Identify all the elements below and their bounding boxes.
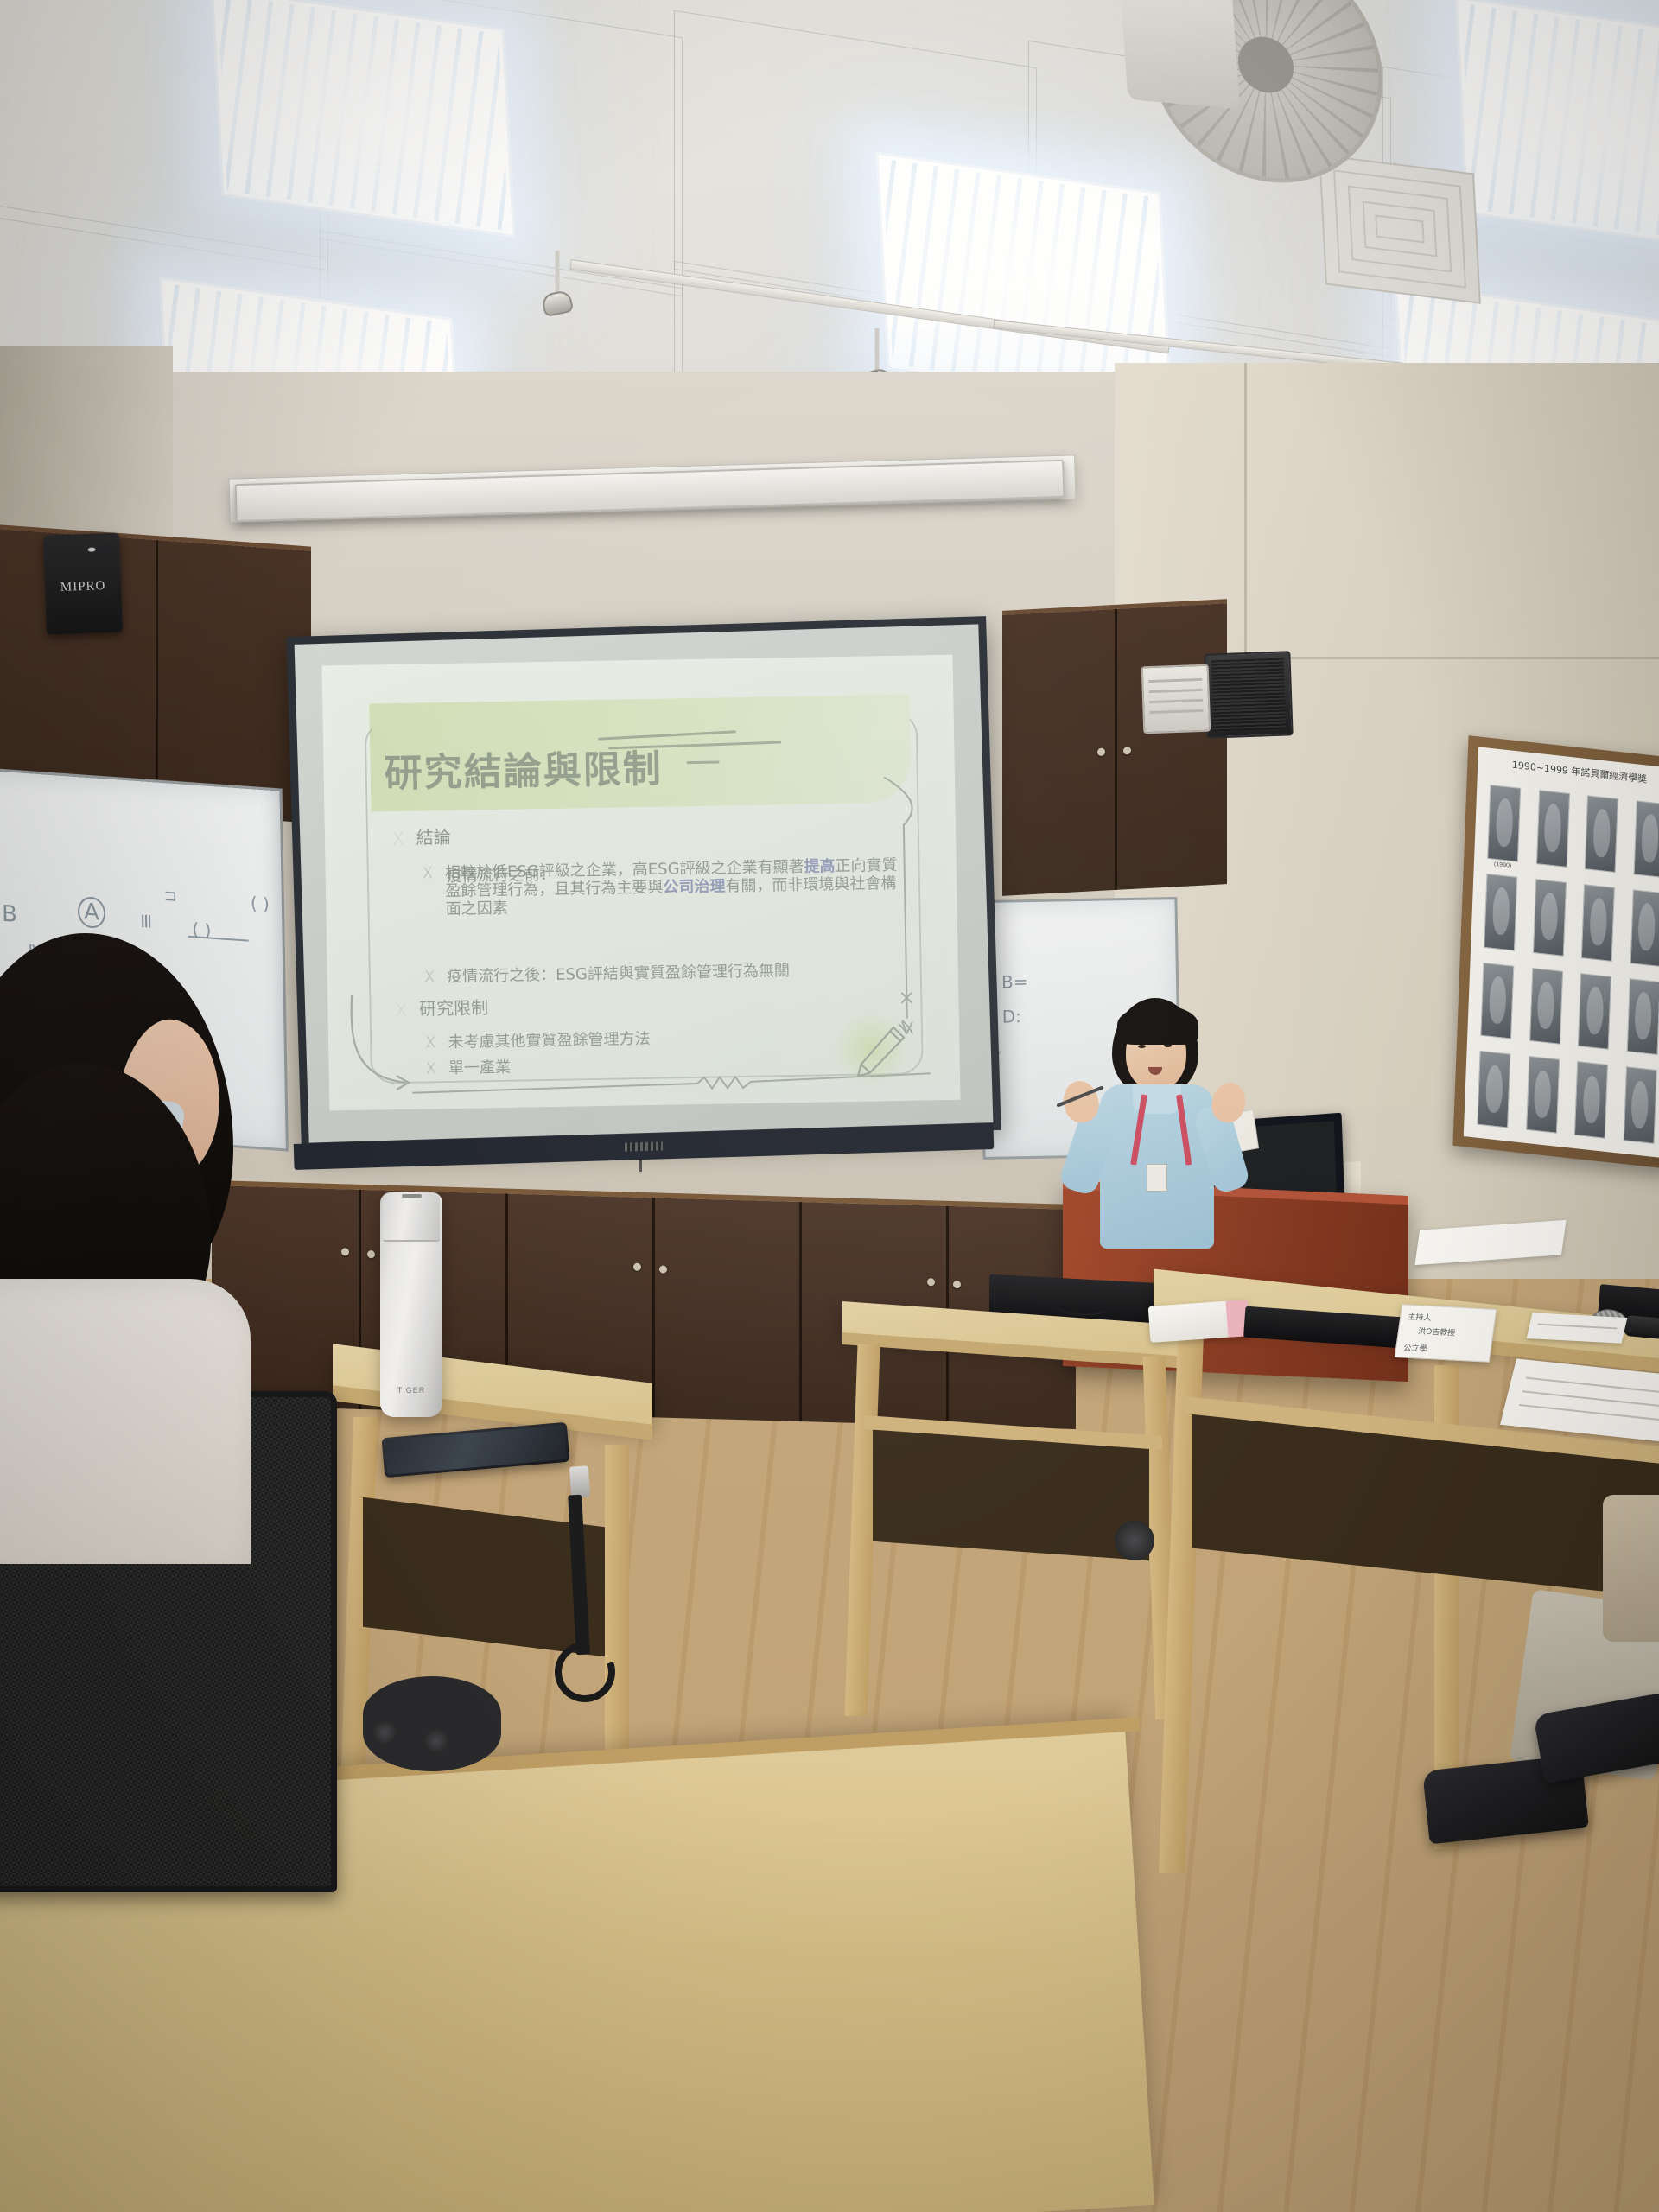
poster-inner: 1990~1999 年諾貝爾經濟學獎 (1990) — [1464, 747, 1659, 1158]
poster-portrait — [1472, 1050, 1516, 1136]
microphone-body — [1624, 1315, 1659, 1341]
mouth-icon — [1148, 1067, 1162, 1075]
nobel-laureates-poster: 1990~1999 年諾貝爾經濟學獎 (1990) — [1452, 735, 1659, 1170]
whiteboard-note: B= — [1001, 971, 1028, 993]
audience-torso — [0, 1279, 251, 1564]
water-bottle[interactable]: TIGER — [380, 1192, 442, 1417]
name-card-role: 主持人 — [1408, 1311, 1433, 1323]
classroom-photo-scene: MIPRO 1990~1999 年諾貝爾經濟學獎 (1990) — [0, 0, 1659, 2212]
bottle-brand-label: TIGER — [380, 1386, 442, 1395]
screen-brand-logo — [625, 1141, 663, 1151]
presenter-fringe — [1117, 1005, 1198, 1045]
projection-screen[interactable]: 研究結論與限制 X 結論 X 相較於低ESG評級之企業，高ESG評級之企業有顯著… — [286, 616, 1001, 1151]
name-card-affiliation: 公立學 — [1403, 1342, 1428, 1354]
poster-portrait — [1521, 1056, 1564, 1142]
whiteboard-note: ⊐ — [164, 887, 177, 906]
poster-portrait — [1625, 888, 1659, 975]
wall-speaker — [1204, 651, 1293, 738]
name-card-name: 洪O吉教授 — [1417, 1325, 1456, 1338]
poster-portrait — [1580, 795, 1623, 881]
eye-icon — [1138, 1045, 1146, 1048]
slide-connector-line — [877, 776, 933, 1036]
audience-right — [1417, 1599, 1659, 1944]
whiteboard-note: D: — [1002, 1006, 1022, 1027]
poster-portrait — [1476, 962, 1519, 1048]
fan-mount-bracket — [1119, 0, 1240, 109]
poster-portrait — [1528, 878, 1571, 964]
chair-caster — [423, 1728, 449, 1754]
id-badge — [1147, 1164, 1167, 1192]
bottle-cap[interactable] — [383, 1192, 440, 1242]
poster-portrait-grid: (1990) — [1472, 784, 1659, 1152]
speaker-led-icon — [88, 548, 96, 552]
poster-portrait — [1531, 790, 1574, 876]
poster-portrait — [1618, 1066, 1659, 1153]
tissue-pack[interactable] — [1148, 1300, 1250, 1343]
name-card: 主持人 洪O吉教授 公立學 — [1395, 1304, 1497, 1362]
cable — [1054, 1292, 1115, 1316]
bottle-lock-icon — [402, 1194, 422, 1197]
strap-clasp — [569, 1465, 590, 1497]
poster-portrait — [1570, 1061, 1613, 1147]
chair-caster — [372, 1719, 397, 1745]
paper-sheet[interactable] — [1527, 1313, 1628, 1343]
wall-seam — [1244, 363, 1247, 674]
chair-caster — [1115, 1521, 1154, 1560]
bullet-marker-icon: X — [424, 968, 435, 986]
screen-surface: 研究結論與限制 X 結論 X 相較於低ESG評級之企業，高ESG評級之企業有顯著… — [295, 624, 994, 1142]
poster-heading: 1990~1999 年諾貝爾經濟學獎 — [1478, 753, 1659, 790]
wall-ac-unit — [1141, 664, 1211, 734]
poster-portrait — [1573, 972, 1617, 1058]
poster-portrait — [1479, 873, 1522, 959]
poster-portrait — [1622, 977, 1659, 1064]
poster-portrait — [1629, 800, 1659, 887]
mipro-speaker: MIPRO — [43, 532, 123, 634]
ceiling-light-panel — [1455, 0, 1659, 254]
upper-cabinet-right[interactable] — [1002, 599, 1227, 896]
track-spotlight[interactable] — [540, 251, 575, 311]
mipro-brand-label: MIPRO — [45, 578, 122, 595]
audience-body — [1603, 1495, 1659, 1642]
poster-portrait-caption: (1990) — [1494, 861, 1511, 869]
bullet-marker-icon: X — [392, 829, 404, 849]
slide-section-heading-text: 結論 — [416, 828, 451, 849]
bullet-marker-icon: X — [423, 864, 434, 882]
whiteboard-note: ( ) — [251, 893, 270, 915]
slide-bullet-lead: 疫情流行之前： — [447, 862, 556, 887]
poster-portrait — [1524, 967, 1567, 1053]
poster-portrait — [1576, 883, 1619, 969]
slide: 研究結論與限制 X 結論 X 相較於低ESG評級之企業，高ESG評級之企業有顯著… — [322, 655, 961, 1111]
presenter — [1050, 998, 1249, 1249]
poster-portrait: (1990) — [1483, 784, 1526, 870]
audience-foreground — [0, 916, 363, 1538]
